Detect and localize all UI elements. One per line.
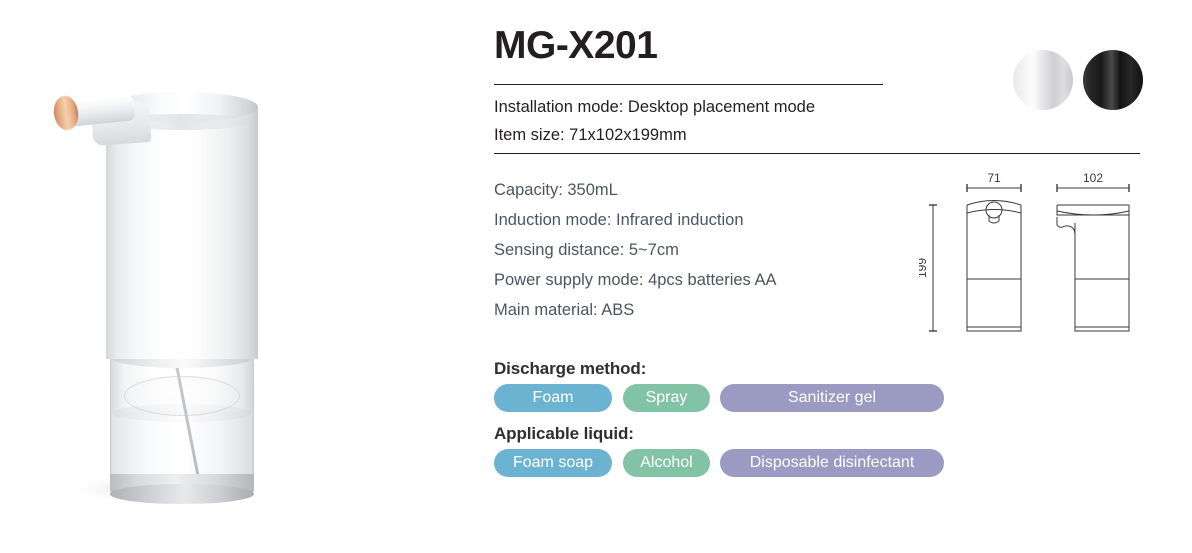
technical-drawing: 71 102 199 (919, 163, 1189, 363)
pill-spray[interactable]: Spray (623, 384, 710, 412)
front-view-sensor-housing (989, 215, 999, 223)
divider-top (494, 84, 883, 85)
applicable-liquid-heading: Applicable liquid: (494, 421, 964, 446)
applicable-liquid-options: Foam soap Alcohol Disposable disinfectan… (494, 449, 964, 477)
front-view-body (967, 205, 1021, 331)
product-spec-sheet: MG-X201 Installation mode: Desktop place… (0, 0, 1192, 553)
item-size-line: Item size: 71x102x199mm (494, 121, 964, 149)
specification-list: Capacity: 350mL Induction mode: Infrared… (494, 175, 964, 325)
dimension-drawing-svg: 71 102 199 (919, 163, 1189, 363)
pill-foam-soap[interactable]: Foam soap (494, 449, 612, 477)
installation-block: Installation mode: Desktop placement mod… (494, 93, 964, 149)
product-image (48, 58, 278, 508)
side-view-body (1075, 205, 1129, 331)
method-section: Discharge method: Foam Spray Sanitizer g… (494, 356, 964, 477)
discharge-method-heading: Discharge method: (494, 356, 964, 381)
spec-capacity: Capacity: 350mL (494, 175, 964, 205)
side-view-spout (1057, 217, 1065, 227)
side-view-cap-curve (1057, 211, 1129, 215)
side-view-spout-neck (1065, 226, 1075, 235)
dim-label-102: 102 (1083, 171, 1103, 185)
pill-sanitizer-gel[interactable]: Sanitizer gel (720, 384, 944, 412)
color-swatch-black[interactable] (1083, 50, 1143, 110)
spec-power-supply: Power supply mode: 4pcs batteries AA (494, 265, 964, 295)
product-base (110, 484, 254, 504)
product-photo-area (0, 0, 470, 553)
color-swatch-silver[interactable] (1013, 50, 1073, 110)
pill-alcohol[interactable]: Alcohol (623, 449, 710, 477)
pill-foam[interactable]: Foam (494, 384, 612, 412)
installation-mode-line: Installation mode: Desktop placement mod… (494, 93, 964, 121)
color-swatch-group (1013, 50, 1153, 112)
page-title: MG-X201 (494, 26, 657, 65)
spec-main-material: Main material: ABS (494, 295, 964, 325)
dim-label-71: 71 (987, 171, 1001, 185)
discharge-method-options: Foam Spray Sanitizer gel (494, 384, 964, 412)
spec-sensing-distance: Sensing distance: 5~7cm (494, 235, 964, 265)
product-info-panel: MG-X201 Installation mode: Desktop place… (494, 0, 1192, 553)
divider-middle (494, 153, 1140, 154)
spec-induction-mode: Induction mode: Infrared induction (494, 205, 964, 235)
dim-label-199: 199 (919, 258, 929, 278)
pill-disposable-disinfectant[interactable]: Disposable disinfectant (720, 449, 944, 477)
front-view-cap-top (967, 201, 1021, 206)
front-view-cap-line (967, 210, 1021, 214)
